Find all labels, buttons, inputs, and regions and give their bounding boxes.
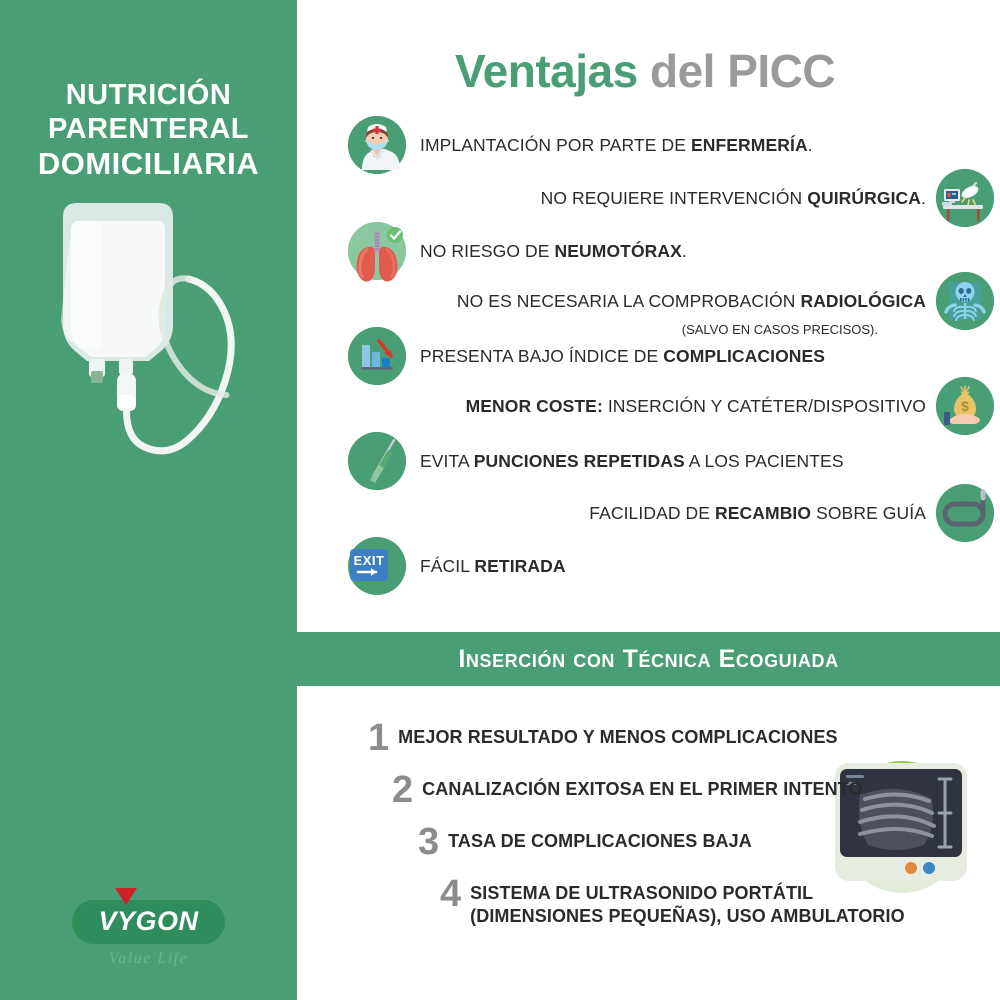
advantage-text-3: NO RIESGO DE NEUMOTÓRAX. bbox=[420, 241, 687, 262]
numbered-item-3: 3 TASA DE COMPLICACIONES BAJA bbox=[418, 824, 940, 860]
advantages-list: IMPLANTACIÓN POR PARTE DE ENFERMERÍA. NO… bbox=[300, 110, 1000, 620]
title-line-2: PARENTERAL bbox=[0, 112, 297, 146]
operating-room-icon bbox=[936, 169, 994, 227]
advantage-text-2: NO REQUIERE INTERVENCIÓN QUIRÚRGICA. bbox=[541, 188, 926, 209]
syringe-needle-icon bbox=[348, 432, 406, 490]
advantage-6-bold: MENOR COSTE: bbox=[466, 396, 603, 416]
advantage-4-prefix: NO ES NECESARIA LA COMPROBACIÓN bbox=[457, 291, 801, 311]
numbered-item-2-number: 2 bbox=[392, 772, 413, 808]
advantage-text-7: EVITA PUNCIONES REPETIDAS A LOS PACIENTE… bbox=[420, 451, 844, 472]
advantage-8-prefix: FACILIDAD DE bbox=[589, 503, 715, 523]
page-title-gray-part: del PICC bbox=[650, 45, 835, 97]
page-title: Ventajas del PICC bbox=[455, 44, 835, 98]
advantage-3-bold: NEUMOTÓRAX bbox=[555, 241, 682, 261]
section-band: Inserción con Técnica Ecoguiada bbox=[297, 632, 1000, 686]
advantage-5-prefix: PRESENTA BAJO ÍNDICE DE bbox=[420, 346, 663, 366]
advantage-8-suffix: SOBRE GUÍA bbox=[811, 503, 926, 523]
svg-text:$: $ bbox=[961, 398, 969, 414]
page-title-green-part: Ventajas bbox=[455, 45, 638, 97]
advantage-text-5: PRESENTA BAJO ÍNDICE DE COMPLICACIONES bbox=[420, 346, 825, 367]
advantage-9-bold: RETIRADA bbox=[474, 556, 565, 576]
numbered-item-4-text: SISTEMA DE ULTRASONIDO PORTÁTIL (DIMENSI… bbox=[470, 876, 905, 927]
advantage-7-prefix: EVITA bbox=[420, 451, 474, 471]
advantage-5-bold: COMPLICACIONES bbox=[663, 346, 825, 366]
left-panel-title: NUTRICIÓN PARENTERAL DOMICILIARIA bbox=[0, 78, 297, 183]
red-triangle-icon bbox=[115, 888, 137, 905]
numbered-item-4-line-1: SISTEMA DE ULTRASONIDO PORTÁTIL bbox=[470, 883, 813, 903]
xray-skeleton-icon bbox=[936, 272, 994, 330]
guidewire-coil-icon bbox=[936, 484, 994, 542]
numbered-item-4: 4 SISTEMA DE ULTRASONIDO PORTÁTIL (DIMEN… bbox=[440, 876, 940, 927]
iv-bag-illustration bbox=[45, 195, 310, 485]
advantage-3-suffix: . bbox=[682, 241, 687, 261]
advantage-text-4: NO ES NECESARIA LA COMPROBACIÓN RADIOLÓG… bbox=[457, 291, 926, 312]
advantage-text-8: FACILIDAD DE RECAMBIO SOBRE GUÍA bbox=[589, 503, 926, 524]
title-line-3: DOMICILIARIA bbox=[0, 146, 297, 183]
vygon-tagline: Value Life bbox=[0, 950, 297, 968]
advantage-6-suffix: INSERCIÓN Y CATÉTER/DISPOSITIVO bbox=[603, 396, 926, 416]
advantage-4-bold: RADIOLÓGICA bbox=[800, 291, 926, 311]
vygon-brand-text: VYGON bbox=[98, 906, 198, 936]
nurse-icon bbox=[348, 116, 406, 174]
numbered-list: 1 MEJOR RESULTADO Y MENOS COMPLICACIONES… bbox=[340, 720, 940, 943]
advantage-2-prefix: NO REQUIERE INTERVENCIÓN bbox=[541, 188, 808, 208]
advantage-9-prefix: FÁCIL bbox=[420, 556, 474, 576]
advantage-text-6: MENOR COSTE: INSERCIÓN Y CATÉTER/DISPOSI… bbox=[466, 396, 926, 417]
advantage-1-bold: ENFERMERÍA bbox=[691, 135, 808, 155]
advantage-7-bold: PUNCIONES REPETIDAS bbox=[474, 451, 685, 471]
advantage-text-9: FÁCIL RETIRADA bbox=[420, 556, 566, 577]
vygon-logo: VYGON Value Life bbox=[0, 900, 297, 968]
section-band-heading: Inserción con Técnica Ecoguiada bbox=[458, 645, 838, 674]
numbered-item-1: 1 MEJOR RESULTADO Y MENOS COMPLICACIONES bbox=[368, 720, 940, 756]
numbered-item-1-number: 1 bbox=[368, 720, 389, 756]
advantage-item-6: MENOR COSTE: INSERCIÓN Y CATÉTER/DISPOSI… bbox=[466, 375, 994, 437]
left-green-panel: NUTRICIÓN PARENTERAL DOMICILIARIA bbox=[0, 0, 297, 1000]
advantage-7-suffix: A LOS PACIENTES bbox=[685, 451, 844, 471]
vygon-logo-pill: VYGON bbox=[72, 900, 224, 944]
advantage-8-bold: RECAMBIO bbox=[715, 503, 811, 523]
title-line-1: NUTRICIÓN bbox=[0, 78, 297, 112]
money-bag-hand-icon: $ bbox=[936, 377, 994, 435]
advantage-2-suffix: . bbox=[921, 188, 926, 208]
advantage-1-suffix: . bbox=[808, 135, 813, 155]
numbered-item-2: 2 CANALIZACIÓN EXITOSA EN EL PRIMER INTE… bbox=[392, 772, 940, 808]
numbered-item-1-text: MEJOR RESULTADO Y MENOS COMPLICACIONES bbox=[398, 720, 838, 749]
advantage-3-prefix: NO RIESGO DE bbox=[420, 241, 555, 261]
lungs-icon bbox=[348, 222, 406, 280]
advantage-item-9: EXIT FÁCIL RETIRADA bbox=[348, 535, 566, 597]
numbered-item-2-text: CANALIZACIÓN EXITOSA EN EL PRIMER INTENT… bbox=[422, 772, 862, 801]
declining-bar-chart-icon bbox=[348, 327, 406, 385]
exit-sign-icon: EXIT bbox=[348, 537, 406, 595]
advantage-item-8: FACILIDAD DE RECAMBIO SOBRE GUÍA bbox=[589, 482, 994, 544]
numbered-item-4-line-2: (DIMENSIONES PEQUEÑAS), USO AMBULATORIO bbox=[470, 906, 905, 926]
numbered-item-3-number: 3 bbox=[418, 824, 439, 860]
numbered-item-4-number: 4 bbox=[440, 876, 461, 912]
numbered-item-3-text: TASA DE COMPLICACIONES BAJA bbox=[448, 824, 752, 853]
advantage-2-bold: QUIRÚRGICA bbox=[807, 188, 921, 208]
advantage-text-1: IMPLANTACIÓN POR PARTE DE ENFERMERÍA. bbox=[420, 135, 813, 156]
svg-text:EXIT: EXIT bbox=[354, 553, 385, 568]
advantage-1-prefix: IMPLANTACIÓN POR PARTE DE bbox=[420, 135, 691, 155]
infographic-canvas: NUTRICIÓN PARENTERAL DOMICILIARIA bbox=[0, 0, 1000, 1000]
